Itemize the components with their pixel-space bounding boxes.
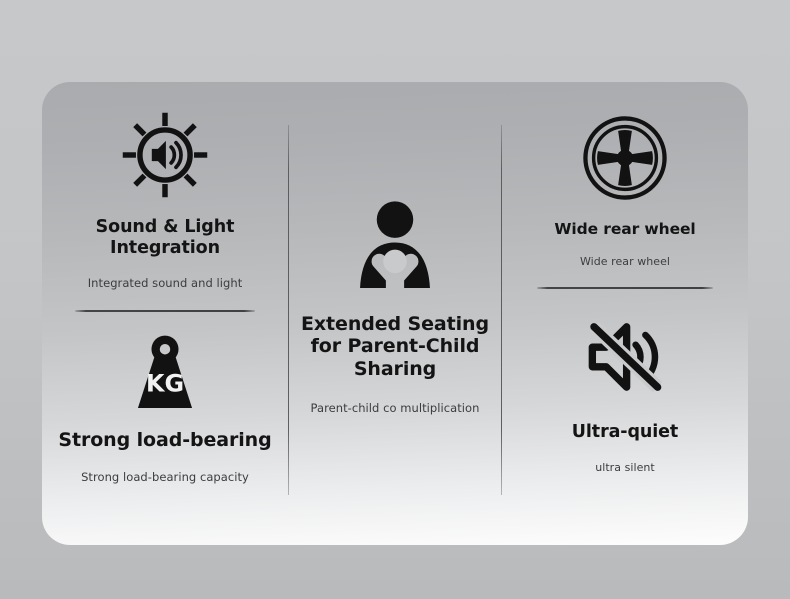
feature-card: Sound & Light Integration Integrated sou…: [42, 82, 748, 545]
kg-weight-icon: KG: [125, 334, 205, 412]
sound-light-sun-speaker-icon: [121, 111, 209, 199]
feature-columns: Sound & Light Integration Integrated sou…: [42, 82, 748, 545]
feature-caption: ultra silent: [595, 461, 655, 475]
feature-extended-seating: Extended Seating for Parent-Child Sharin…: [289, 82, 501, 416]
kg-weight-icon-label: KG: [146, 370, 184, 398]
feature-column-right: Wide rear wheel Wide rear wheel Ultra-qu…: [502, 82, 748, 545]
parent-child-seating-icon: [357, 201, 433, 293]
feature-caption: Integrated sound and light: [88, 276, 243, 291]
feature-caption: Strong load-bearing capacity: [81, 470, 249, 485]
feature-ultra-quiet: Ultra-quiet ultra silent: [502, 289, 748, 476]
wide-rear-wheel-icon: [582, 115, 668, 201]
feature-caption: Parent-child co multiplication: [311, 401, 480, 416]
feature-column-left: Sound & Light Integration Integrated sou…: [42, 82, 288, 545]
feature-sound-light-integration: Sound & Light Integration Integrated sou…: [42, 82, 288, 291]
feature-strong-load-bearing: KG Strong load-bearing Strong load-beari…: [42, 312, 288, 484]
feature-wide-rear-wheel: Wide rear wheel Wide rear wheel: [502, 82, 748, 270]
feature-caption: Wide rear wheel: [580, 255, 670, 269]
feature-column-center: Extended Seating for Parent-Child Sharin…: [289, 82, 501, 545]
feature-title: Strong load-bearing: [58, 429, 271, 451]
feature-title: Ultra-quiet: [572, 422, 678, 443]
feature-title: Sound & Light Integration: [42, 217, 288, 258]
feature-title: Extended Seating for Parent-Child Sharin…: [295, 313, 495, 380]
muted-speaker-icon: [584, 317, 666, 397]
feature-title: Wide rear wheel: [554, 220, 695, 238]
